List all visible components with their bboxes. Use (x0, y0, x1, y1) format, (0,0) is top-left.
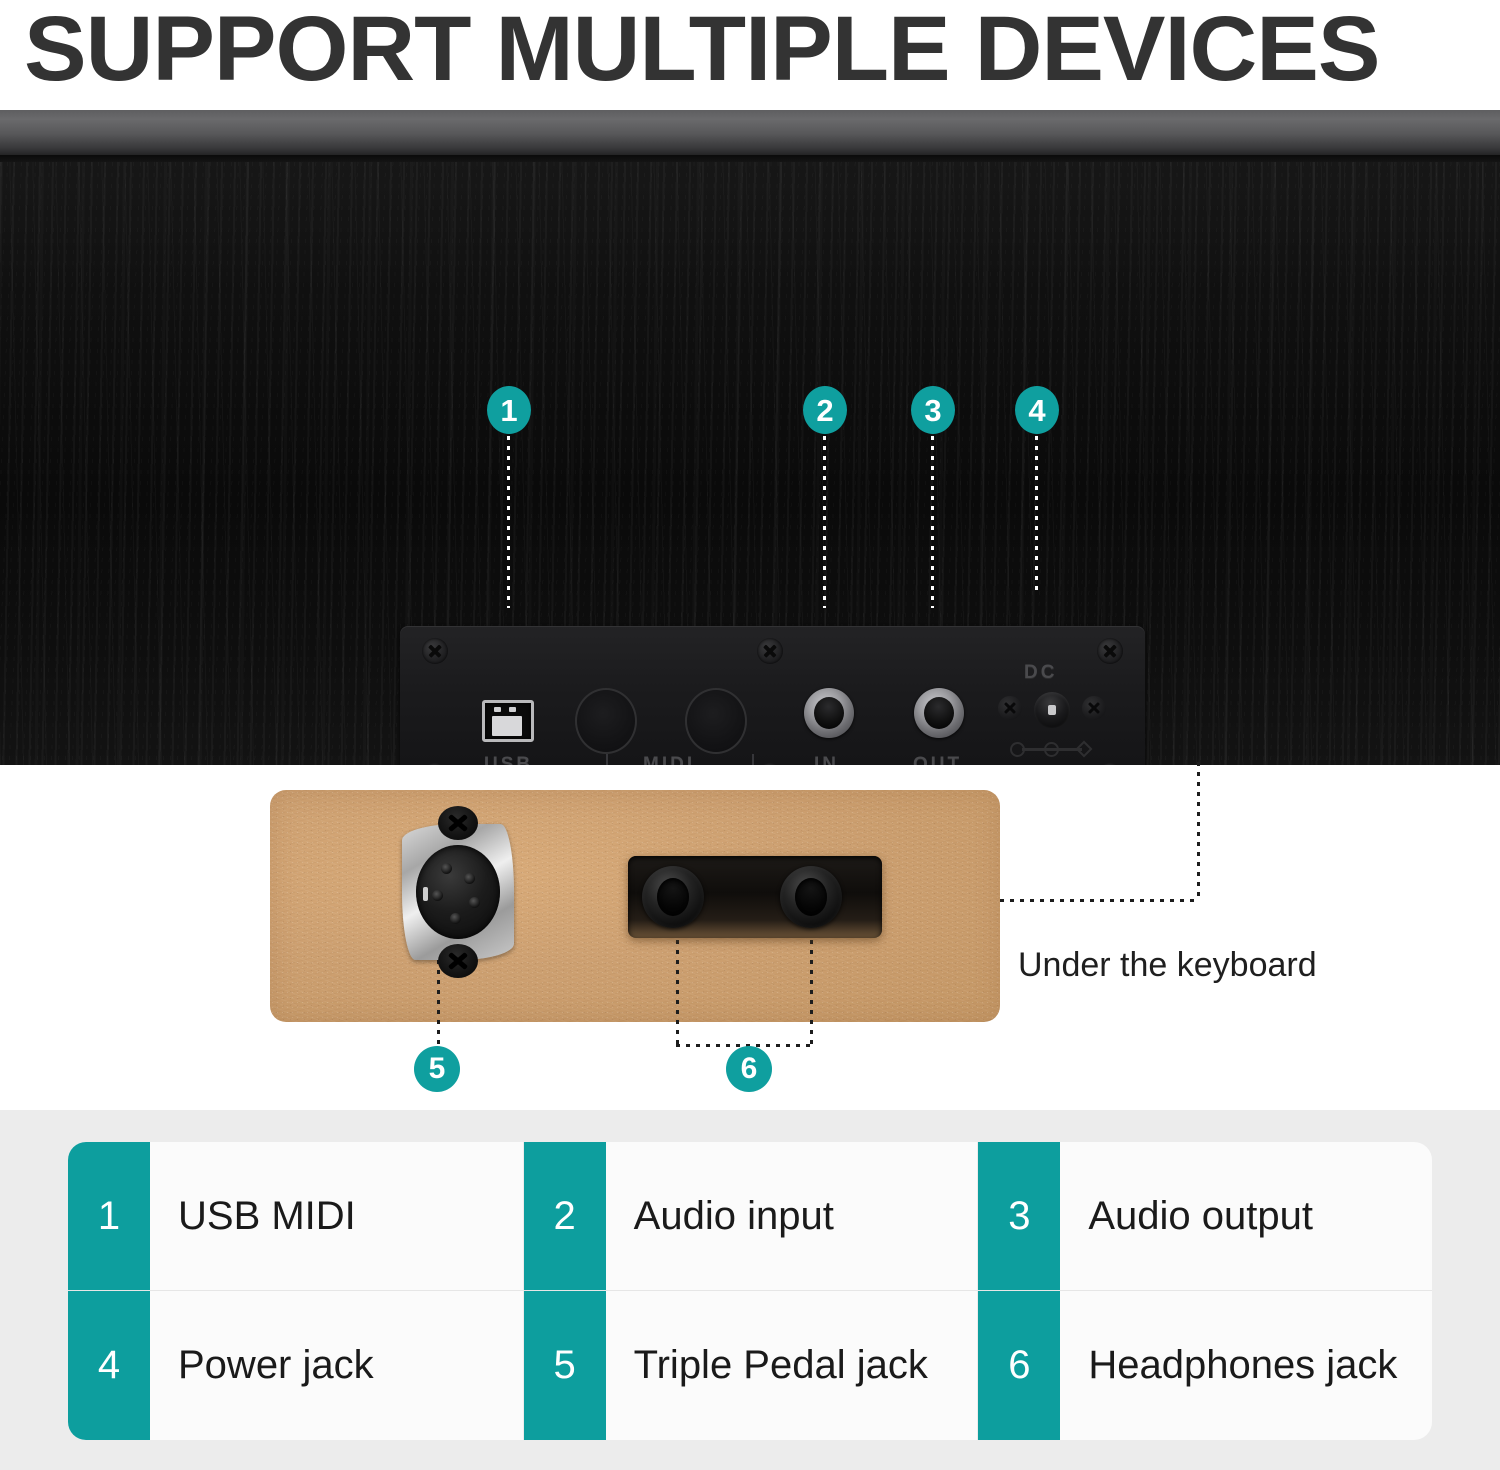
din-screw-bottom (438, 944, 478, 978)
label-usb: USB (484, 754, 533, 765)
label-dc: DC (1024, 662, 1057, 684)
panel-screw-bottom-right (1097, 763, 1123, 765)
audio-out-jack (914, 688, 964, 738)
legend-label-1: USB MIDI (178, 1194, 356, 1239)
dc-polarity-icon (1010, 740, 1094, 758)
legend-item-4: 4 Power jack (68, 1291, 523, 1440)
title-bar: SUPPORT MULTIPLE DEVICES (0, 0, 1500, 110)
callout-leader-1 (507, 436, 510, 608)
din-screw-top (438, 806, 478, 840)
legend-number-3: 3 (978, 1142, 1060, 1290)
legend-label-5: Triple Pedal jack (634, 1343, 928, 1388)
rear-connection-panel: USB MIDI IN OUT DC (400, 626, 1145, 765)
usb-port-inner (492, 716, 522, 736)
panel-screw-bottom-left (422, 763, 448, 765)
panel-screw-bottom-center (757, 763, 783, 765)
legend-label-4: Power jack (178, 1343, 374, 1388)
callout-leader-6-right (810, 930, 813, 1046)
label-out: OUT (913, 754, 962, 765)
callout-badge-6: 6 (726, 1046, 772, 1092)
dc-power-jack (998, 684, 1106, 746)
callout-badge-3: 3 (911, 386, 955, 434)
callout-badge-1: 1 (487, 386, 531, 434)
callout-leader-3 (931, 436, 934, 608)
legend-label-6: Headphones jack (1088, 1343, 1397, 1388)
legend-number-1: 1 (68, 1142, 150, 1290)
legend-item-1: 1 USB MIDI (68, 1142, 523, 1291)
triple-pedal-din-jack (392, 806, 524, 978)
page-title: SUPPORT MULTIPLE DEVICES (24, 0, 1379, 104)
callout-leader-2 (823, 436, 826, 608)
panel-screw-top-right (1097, 638, 1123, 664)
under-keyboard-label: Under the keyboard (1018, 946, 1317, 985)
infographic-page: SUPPORT MULTIPLE DEVICES 1 2 3 4 (0, 0, 1500, 1470)
usb-port-tabs (494, 707, 520, 713)
keyboard-rear-photo: 1 2 3 4 USB MIDI IN (0, 110, 1500, 765)
legend-number-2: 2 (524, 1142, 606, 1290)
legend-item-5: 5 Triple Pedal jack (523, 1291, 978, 1440)
legend-number-4: 4 (68, 1291, 150, 1440)
headphone-jacks (628, 856, 882, 938)
under-keyboard-leader-horizontal (1000, 899, 1200, 902)
dc-screw-right (1082, 696, 1106, 720)
callout-badge-2: 2 (803, 386, 847, 434)
legend-number-5: 5 (524, 1291, 606, 1440)
callout-leader-6-left (676, 930, 679, 1046)
callout-badge-4: 4 (1015, 386, 1059, 434)
keyboard-top-rail (0, 110, 1500, 162)
legend-label-2: Audio input (634, 1194, 834, 1239)
dc-jack-socket (1034, 692, 1070, 728)
legend-item-3: 3 Audio output (977, 1142, 1432, 1291)
panel-screw-top-left (422, 638, 448, 664)
din-socket (416, 845, 500, 939)
legend-label-3: Audio output (1088, 1194, 1313, 1239)
legend-number-6: 6 (978, 1291, 1060, 1440)
legend-card: 1 USB MIDI 2 Audio input 3 Audio output … (68, 1142, 1432, 1440)
audio-in-jack (804, 688, 854, 738)
legend-item-6: 6 Headphones jack (977, 1291, 1432, 1440)
panel-screw-top-center (757, 638, 783, 664)
legend-section: 1 USB MIDI 2 Audio input 3 Audio output … (0, 1110, 1500, 1470)
usb-type-b-port (482, 700, 534, 742)
callout-badge-5: 5 (414, 1046, 460, 1092)
midi-din-blank-1 (575, 688, 637, 754)
legend-item-2: 2 Audio input (523, 1142, 978, 1291)
midi-din-blank-2 (685, 688, 747, 754)
label-midi: MIDI (643, 754, 695, 765)
under-keyboard-leader-vertical (1197, 762, 1200, 902)
dc-screw-left (998, 696, 1022, 720)
callout-leader-4 (1035, 436, 1038, 594)
headphone-jack-2 (780, 866, 842, 928)
headphone-jack-1 (642, 866, 704, 928)
din-notch (423, 887, 428, 901)
label-in: IN (814, 754, 839, 765)
